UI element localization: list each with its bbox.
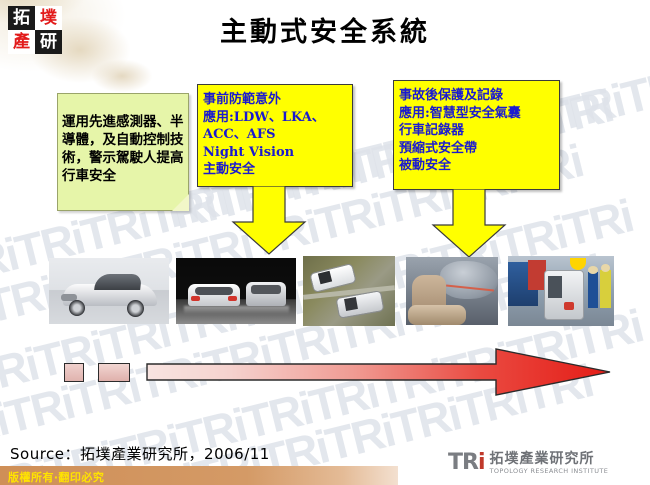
deployed-airbag [440,261,498,299]
watermark-layer: TRiTRiTRiTRiTRiTRiTRiTRiTRiTRi TRiTRiTRi… [0,0,650,485]
rescue-worker-1-head [588,266,598,274]
photo-cars-rear [176,258,296,324]
photo-car-silver [49,258,169,324]
car-b-window [251,285,281,294]
warning-light [570,258,586,270]
crashed-car-2-cabin [344,297,358,311]
rescue-worker-2-head [601,264,610,272]
car-a-taillight-left [191,296,200,301]
callout-active-text: 事前防範意外 應用:LDW、LKA、 ACC、AFS Night Vision … [203,91,325,179]
slide-title: 主動式安全系統 [0,10,650,49]
timeline-marker-1 [64,363,84,382]
tri-wordmark: TRi [448,452,485,474]
timeline-arrow [146,347,612,397]
car-a-taillight-right [228,296,237,301]
photo-airbag [406,257,498,325]
note-fold-corner [172,194,189,211]
overturned-van-window [548,276,562,298]
car-wheel-front [69,300,85,316]
rescue-worker-1 [588,272,598,308]
callout-active-arrow-tail [231,186,307,256]
car-a-window [195,287,233,295]
timeline-marker-2 [98,363,130,382]
photo-rollover [508,256,614,326]
callout-passive-body: 事故後保護及記錄 應用:智慧型安全氣囊 行車記錄器 預縮式安全帶 被動安全 [393,80,560,190]
callout-active-body: 事前防範意外 應用:LDW、LKA、 ACC、AFS Night Vision … [197,84,353,187]
copyright-bar: 版權所有‧翻印必究 [0,466,398,485]
tri-wordmark-tr: TR [448,450,478,475]
car-seat-base [408,305,466,325]
floor-reflection [184,306,289,314]
callout-passive-text: 事故後保護及記錄 應用:智慧型安全氣囊 行車記錄器 預縮式安全帶 被動安全 [399,87,521,175]
copyright-text: 版權所有‧翻印必究 [8,469,104,485]
footer-name-en: TOPOLOGY RESEARCH INSTITUTE [490,468,609,475]
footer-name-cn: 拓墣產業研究所 [490,452,609,466]
callout-passive-arrow-tail [431,189,507,259]
note-box-text: 運用先進感測器、半導體，及自動控制技術，警示駕駛人提高行車安全 [62,113,192,185]
overturned-van-taillight [564,302,574,310]
note-box-definition: 運用先進感測器、半導體，及自動控制技術，警示駕駛人提高行車安全 [57,93,189,211]
photo-crash-aerial [303,256,395,326]
footer-institute-logo: TRi 拓墣產業研究所 TOPOLOGY RESEARCH INSTITUTE [448,452,608,475]
car-cabin-shape [94,274,142,290]
presentation-slide: TRiTRiTRiTRiTRiTRiTRiTRiTRiTRi TRiTRiTRi… [0,0,650,485]
footer-name-stack: 拓墣產業研究所 TOPOLOGY RESEARCH INSTITUTE [490,452,609,475]
tri-wordmark-i: i [478,450,485,475]
car-wheel-rear [127,300,144,317]
rescue-worker-2 [600,270,611,308]
source-line: Source：拓墣產業研究所，2006/11 [10,443,270,464]
crashed-car-1 [309,263,357,293]
